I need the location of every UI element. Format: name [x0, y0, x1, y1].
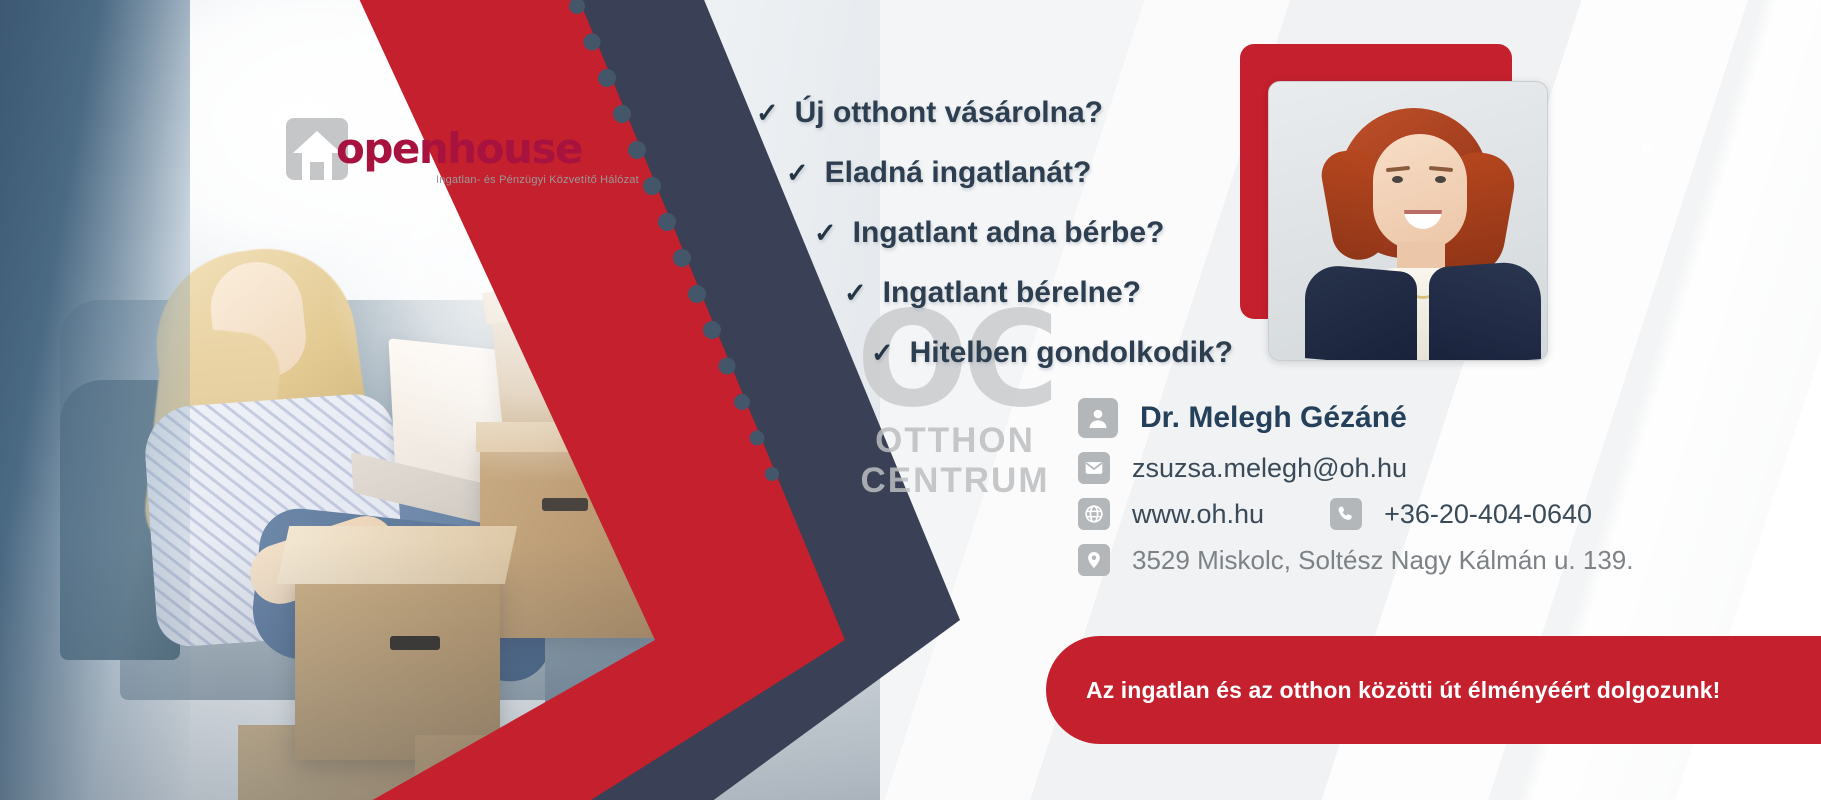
contact-row-web-phone: www.oh.hu +36-20-404-0640	[1078, 498, 1778, 530]
contact-row-name: Dr. Melegh Gézáné	[1078, 398, 1778, 438]
globe-icon	[1078, 498, 1110, 530]
agent-name: Dr. Melegh Gézáné	[1140, 401, 1407, 435]
logo-wordmark: openhouse	[336, 124, 582, 173]
agent-email[interactable]: zsuzsa.melegh@oh.hu	[1132, 453, 1407, 484]
phone-icon	[1330, 498, 1362, 530]
slogan-text: Az ingatlan és az otthon közötti út élmé…	[1086, 677, 1720, 704]
contact-row-address: 3529 Miskolc, Soltész Nagy Kálmán u. 139…	[1078, 544, 1778, 576]
openhouse-logo[interactable]: openhouse Ingatlan- és Pénzügyi Közvetít…	[286, 118, 546, 196]
background-speck	[1643, 143, 1652, 152]
real-estate-banner: OC OTTHON CENTRUM openhouse Ingatlan- és…	[0, 0, 1821, 800]
logo-tagline: Ingatlan- és Pénzügyi Közvetítő Hálózat	[436, 174, 639, 186]
checklist-label: Ingatlant adna bérbe?	[853, 216, 1165, 250]
envelope-icon	[1078, 452, 1110, 484]
check-icon: ✓	[844, 278, 867, 309]
contact-row-email[interactable]: zsuzsa.melegh@oh.hu	[1078, 452, 1778, 484]
map-pin-icon	[1078, 544, 1110, 576]
checklist-label: Új otthont vásárolna?	[795, 96, 1103, 130]
check-icon: ✓	[756, 98, 779, 129]
agent-address: 3529 Miskolc, Soltész Nagy Kálmán u. 139…	[1132, 545, 1633, 576]
agent-phone[interactable]: +36-20-404-0640	[1384, 499, 1592, 530]
person-icon	[1078, 398, 1118, 438]
checklist-label: Eladná ingatlanát?	[825, 156, 1092, 190]
checklist-label: Ingatlant bérelne?	[883, 276, 1141, 310]
agent-photo	[1268, 81, 1548, 361]
agent-portrait-block	[1240, 44, 1540, 354]
check-icon: ✓	[786, 158, 809, 189]
slogan-banner: Az ingatlan és az otthon közötti út élmé…	[1046, 636, 1821, 744]
checklist-label: Hitelben gondolkodik?	[910, 336, 1233, 370]
check-icon: ✓	[814, 218, 837, 249]
agent-website[interactable]: www.oh.hu	[1132, 499, 1264, 530]
agent-contact-details: Dr. Melegh Gézáné zsuzsa.melegh@oh.hu ww…	[1078, 398, 1778, 590]
check-icon: ✓	[871, 338, 894, 369]
